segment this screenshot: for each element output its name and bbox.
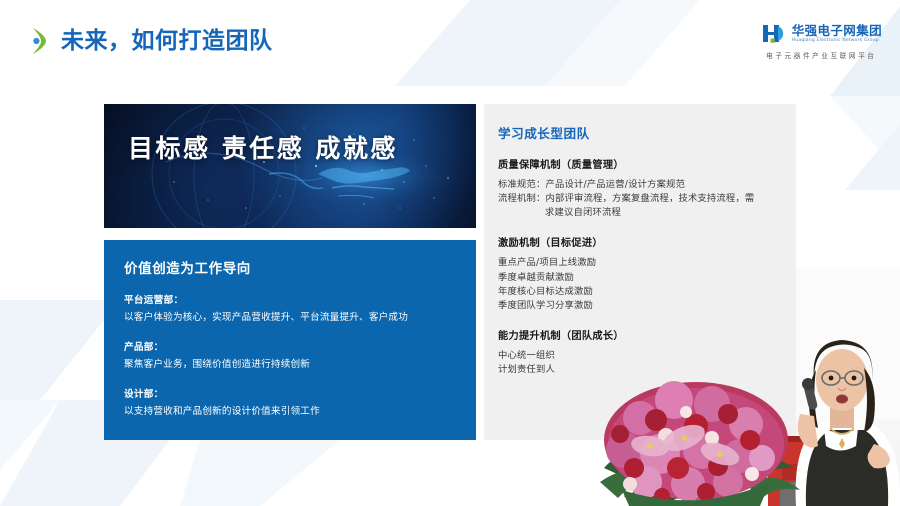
title-block: 未来，如何打造团队 xyxy=(30,26,273,56)
logo-tagline: 电子元器件产业互联网平台 xyxy=(766,50,876,60)
growth-panel-title: 学习成长型团队 xyxy=(498,123,796,142)
speaker-with-flower-basket-photo xyxy=(600,268,900,506)
mechanism-section: 质量保障机制（质量管理） 标准规范：产品设计/产品运营/设计方案规范 流程机制：… xyxy=(498,156,796,220)
section-heading: 质量保障机制（质量管理） xyxy=(498,156,796,171)
section-heading: 激励机制（目标促进） xyxy=(498,234,796,249)
value-orientation-box: 价值创造为工作导向 平台运营部： 以客户体验为核心，实现产品营收提升、平台流量提… xyxy=(104,240,476,440)
section-line: 求建议自闭环流程 xyxy=(498,206,796,220)
logo-row: 华强电子网集团 Huaqiang Electronic Network Grou… xyxy=(761,22,882,46)
logo-name-cn: 华强电子网集团 xyxy=(792,24,882,37)
department-item: 平台运营部： 以客户体验为核心，实现产品营收提升、平台流量提升、客户成功 xyxy=(124,292,456,324)
department-name: 平台运营部： xyxy=(124,292,456,306)
speaker-photo-illustration xyxy=(600,268,900,506)
chevron-right-icon xyxy=(30,26,50,56)
section-body: 标准规范：产品设计/产品运营/设计方案规范 流程机制：内部评审流程，方案复盘流程… xyxy=(498,178,796,220)
department-description: 以客户体验为核心，实现产品营收提升、平台流量提升、客户成功 xyxy=(124,312,456,324)
page-title: 未来，如何打造团队 xyxy=(61,30,273,53)
slide-header: 未来，如何打造团队 华强电子网集团 Huaqiang Electronic Ne… xyxy=(0,0,900,88)
department-name: 设计部： xyxy=(124,386,456,400)
logo-text-group: 华强电子网集团 Huaqiang Electronic Network Grou… xyxy=(792,24,882,44)
department-item: 设计部： 以支持营收和产品创新的设计价值来引领工作 xyxy=(124,386,456,418)
huaqiang-logo-mark-icon xyxy=(761,22,787,46)
logo-name-en: Huaqiang Electronic Network Group xyxy=(792,38,882,44)
department-name: 产品部： xyxy=(124,339,456,353)
section-line: 流程机制：内部评审流程，方案复盘流程，技术支持流程，需 xyxy=(498,192,796,206)
hero-headline: 目标感 责任感 成就感 xyxy=(128,129,398,165)
digital-hand-globe-background-icon xyxy=(104,104,476,228)
value-box-title: 价值创造为工作导向 xyxy=(124,257,456,277)
department-description: 聚焦客户业务，围绕价值创造进行持续创新 xyxy=(124,359,456,371)
company-logo: 华强电子网集团 Huaqiang Electronic Network Grou… xyxy=(761,22,882,60)
department-description: 以支持营收和产品创新的设计价值来引领工作 xyxy=(124,406,456,418)
department-item: 产品部： 聚焦客户业务，围绕价值创造进行持续创新 xyxy=(124,339,456,371)
section-line: 标准规范：产品设计/产品运营/设计方案规范 xyxy=(498,178,796,192)
hero-banner: 目标感 责任感 成就感 xyxy=(104,104,476,228)
